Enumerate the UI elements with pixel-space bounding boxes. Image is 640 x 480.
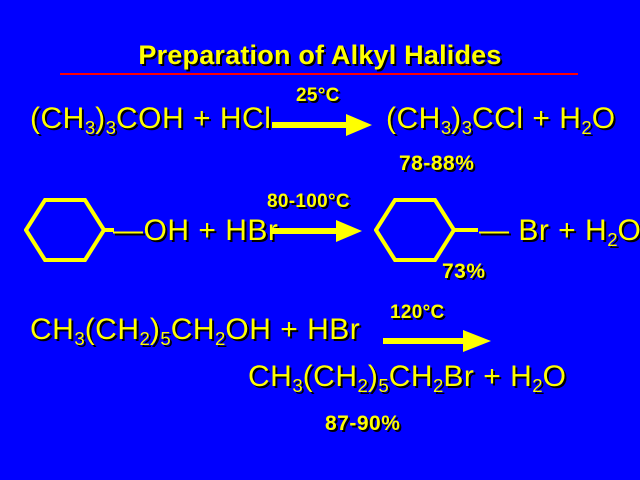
reaction-1-condition: 25°C [296,85,340,107]
reaction-1-arrow [272,112,372,138]
reaction-2-condition: 80-100°C [267,191,350,213]
reaction-3-condition: 120°C [390,302,445,324]
reaction-2-reactant-ring [24,198,114,262]
reaction-2-reactant-label: —OH + HBr [113,214,278,248]
slide-canvas: Preparation of Alkyl Halides (CH3)3COH +… [0,0,640,480]
reaction-2-product-ring [374,198,478,262]
reaction-1-yield: 78-88% [399,152,474,176]
reaction-2-arrow [270,218,362,244]
reaction-1-reactants: (CH3)3COH + HCl [30,102,271,139]
reaction-3-reactants: CH3(CH2)5CH2OH + HBr [30,313,360,350]
reaction-3-arrow [383,328,491,354]
reaction-3-products: CH3(CH2)5CH2Br + H2O [248,360,566,397]
reaction-2-yield: 73% [442,260,486,284]
reaction-1-products: (CH3)3CCl + H2O [386,102,616,139]
page-title: Preparation of Alkyl Halides [0,40,640,71]
reaction-3-yield: 87-90% [325,412,400,436]
title-divider [60,73,578,75]
reaction-2-product-label: — Br + H2O [479,214,640,251]
